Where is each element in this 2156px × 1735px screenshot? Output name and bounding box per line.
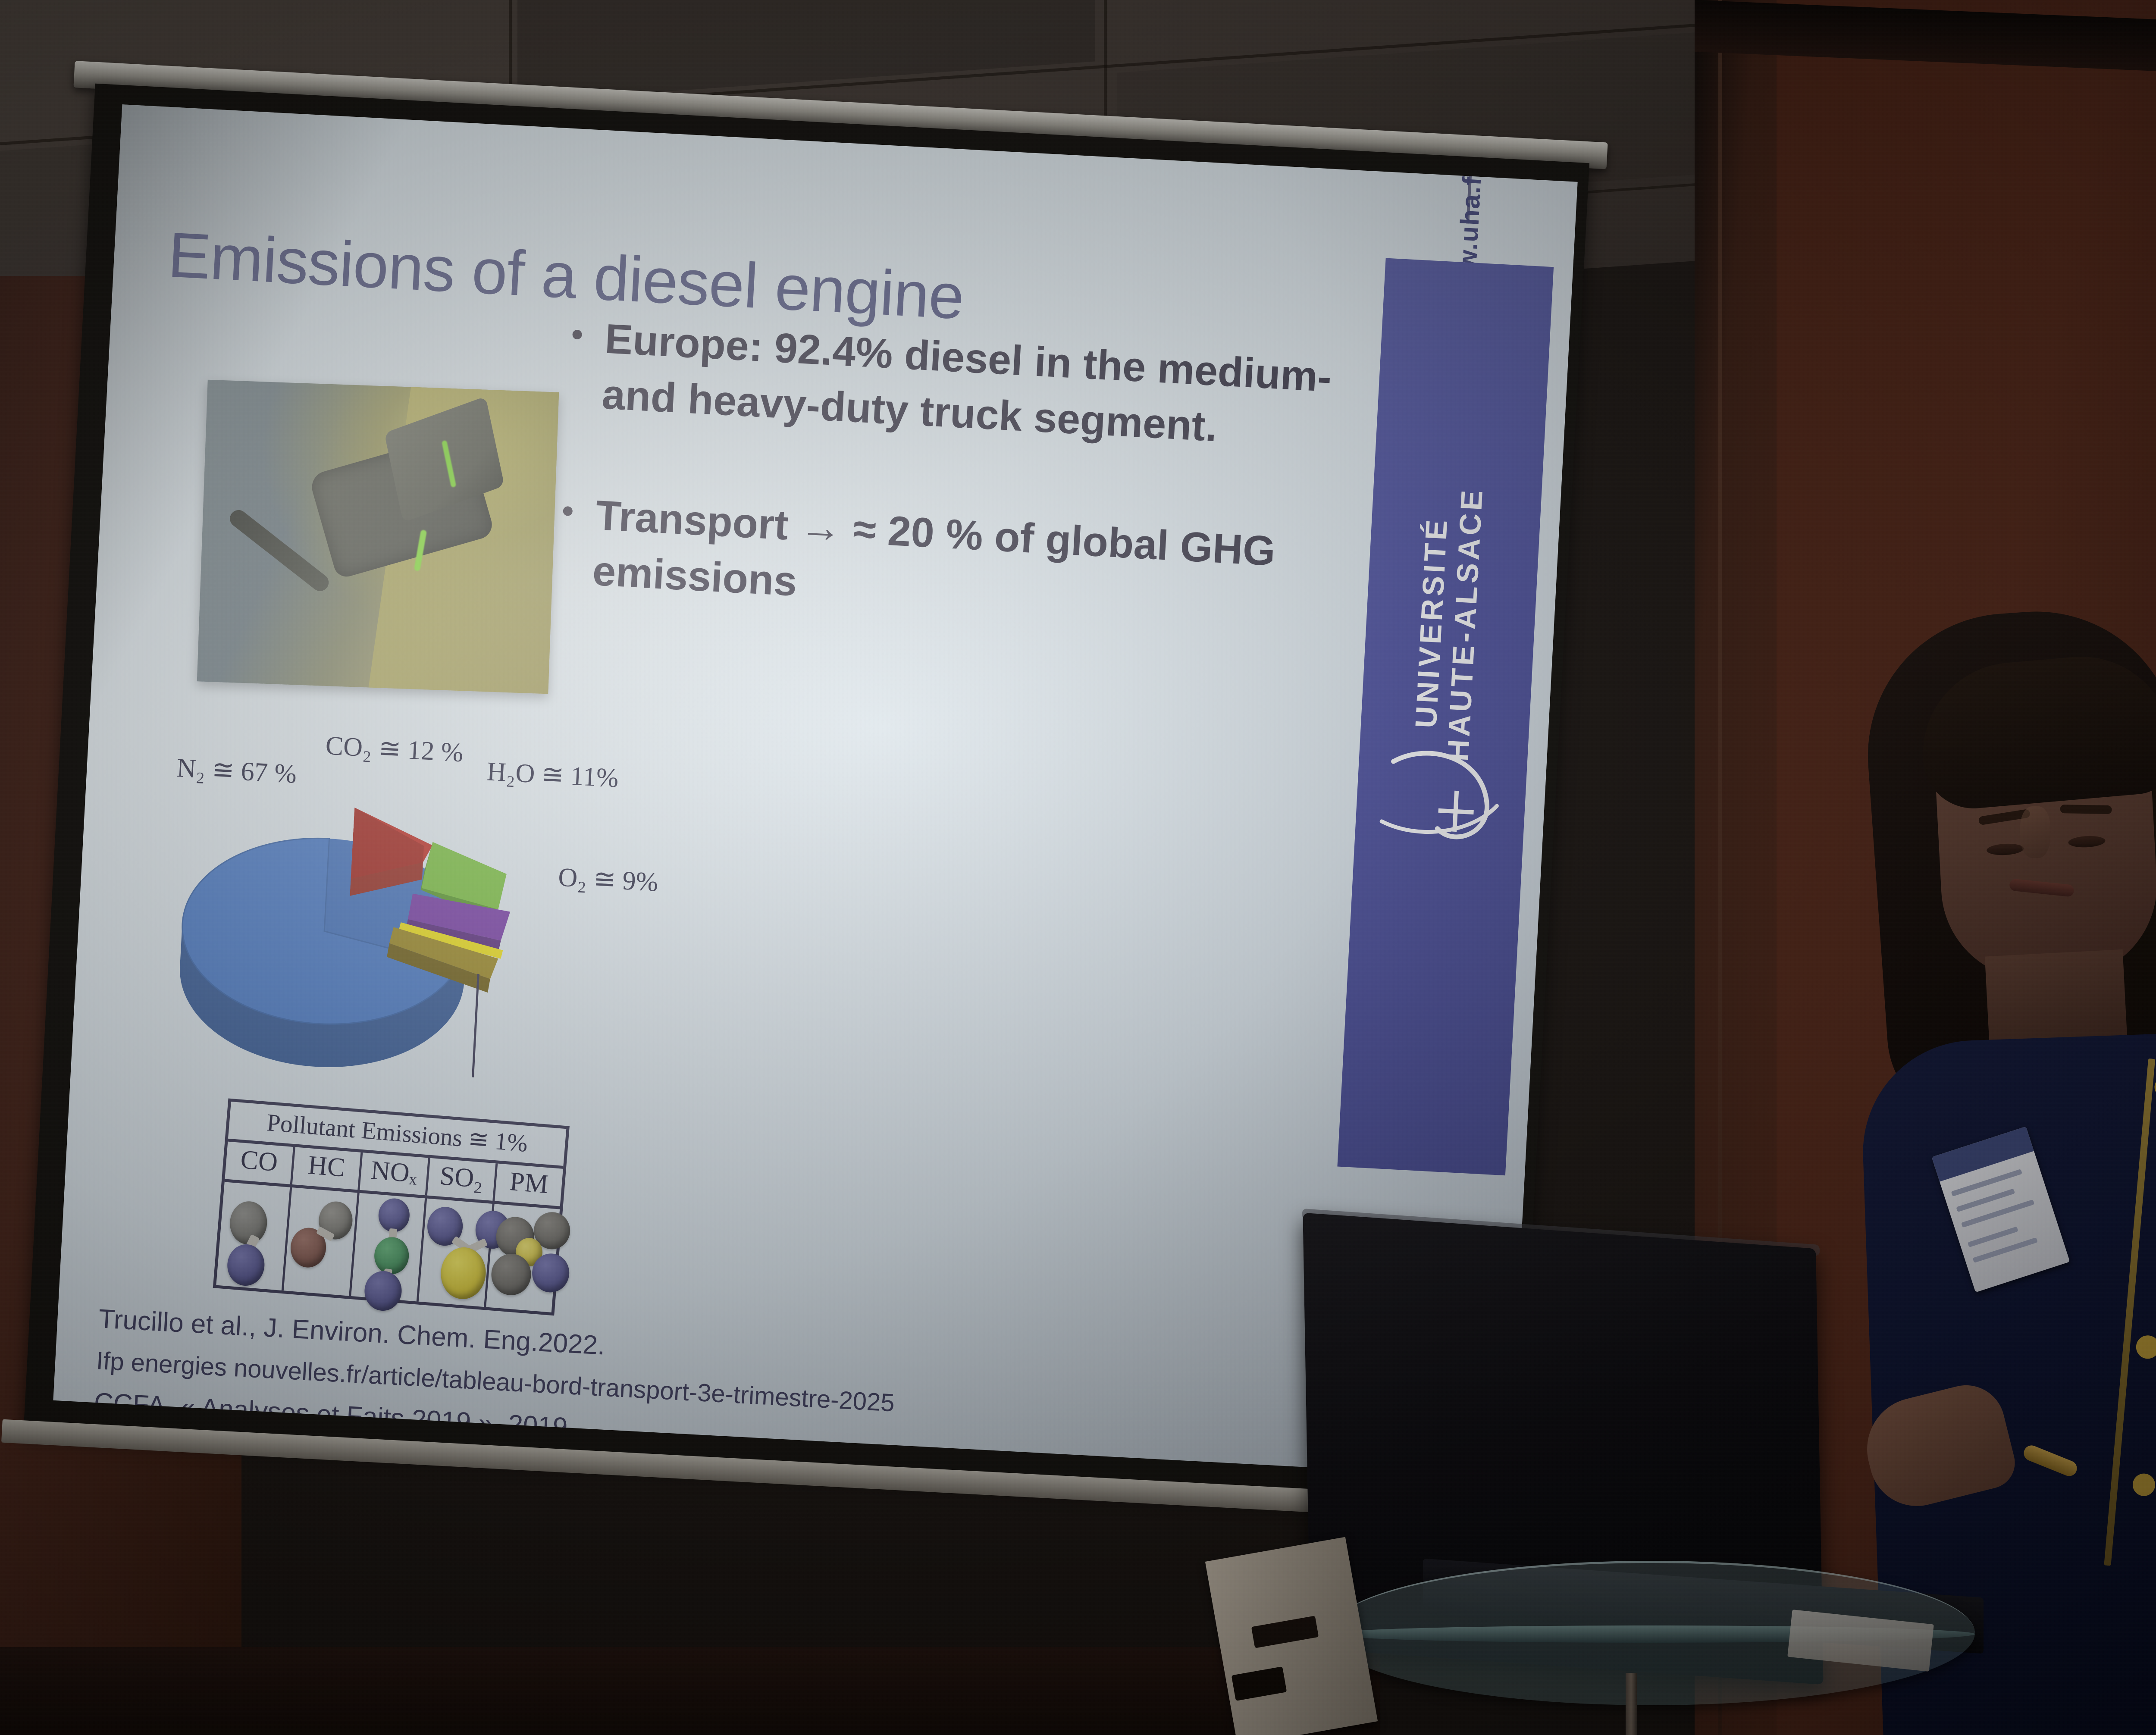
pollutant-emissions-table: Pollutant Emissions ≅ 1% CO HC NOₓ SO₂ P…: [213, 1098, 570, 1315]
molecule-pm-icon: [486, 1204, 560, 1312]
floor: [0, 1647, 1380, 1735]
pie-label-co2: CO₂ ≅ 12 %: [325, 729, 464, 768]
column-header-so2: SO₂: [427, 1158, 498, 1201]
eye-right: [2068, 835, 2106, 848]
list-item: Transport → ≈ 20 % of global GHG emissio…: [552, 485, 1324, 637]
column-header-co: CO: [225, 1142, 295, 1184]
table-stem: [1626, 1673, 1637, 1735]
column-header-nox: NOₓ: [360, 1152, 430, 1195]
bullet-text: Transport → ≈ 20 % of global GHG emissio…: [592, 492, 1277, 605]
uha-swoosh-icon: [1371, 735, 1507, 862]
bullet-dot: [563, 506, 573, 516]
bullet-dot: [572, 329, 582, 339]
eyebrow-right: [2060, 805, 2112, 814]
molecule-co-icon: [216, 1182, 292, 1290]
molecule-nox-icon: [351, 1193, 427, 1302]
slide-bullet-list: Europe: 92.4% diesel in the medium- and …: [548, 309, 1333, 703]
pie-chart-svg: [144, 780, 655, 1108]
exhaust-composition-pie-chart: N₂ ≅ 67 % CO₂ ≅ 12 % H₂O ≅ 11% O₂ ≅ 9%: [144, 724, 710, 1106]
column-header-hc: HC: [292, 1147, 363, 1190]
pie-label-h2o: H₂O ≅ 11%: [486, 755, 619, 794]
nose: [2020, 806, 2050, 858]
eye-left: [1987, 843, 2024, 856]
molecule-hc-icon: [284, 1187, 360, 1296]
conference-room-scene: Emissions of a diesel engine Europe: 92.…: [0, 0, 2156, 1735]
fuel-nozzle-photo: [197, 380, 559, 694]
molecule-so2-icon: [419, 1199, 495, 1307]
column-header-pm: PM: [495, 1164, 563, 1206]
